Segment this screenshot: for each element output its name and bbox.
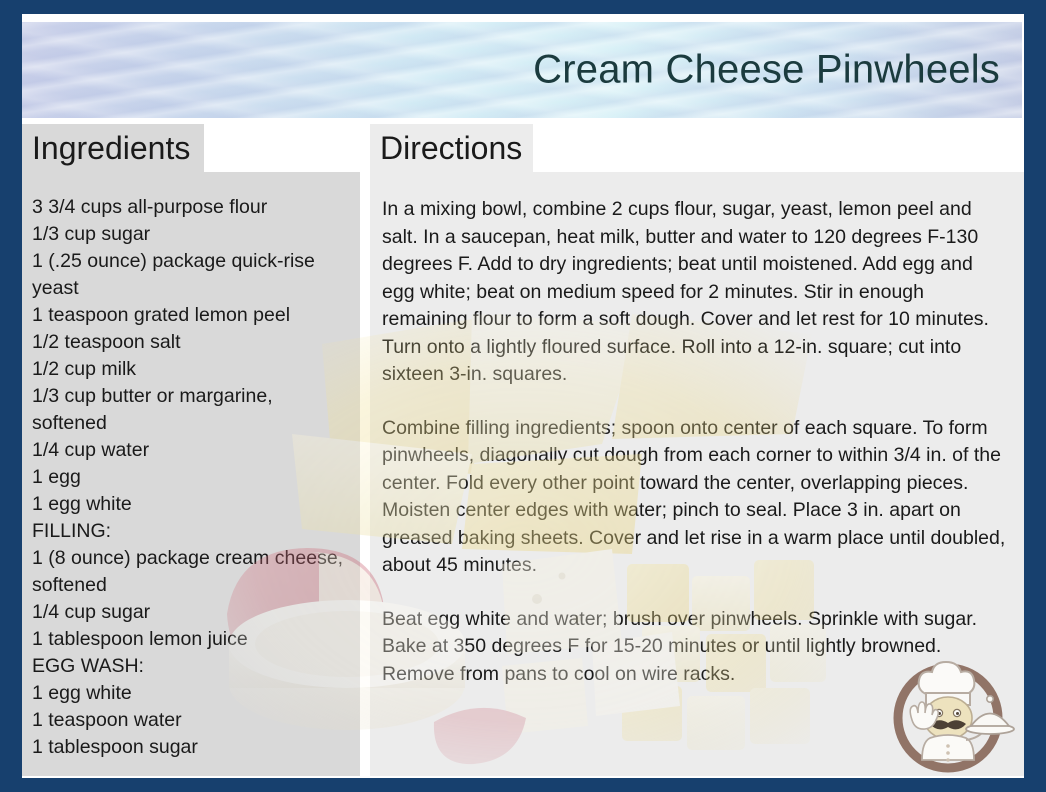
ingredient-item: 1 tablespoon lemon juice [32, 626, 348, 653]
recipe-card: Cream Cheese Pinwheels [0, 0, 1046, 792]
ingredient-item: 1 (8 ounce) package cream cheese, soften… [32, 545, 348, 599]
ingredient-item: 1 teaspoon water [32, 707, 348, 734]
direction-paragraph: In a mixing bowl, combine 2 cups flour, … [382, 196, 1008, 389]
ingredient-item: 1 egg white [32, 680, 348, 707]
ingredient-item: 1 egg white [32, 491, 348, 518]
directions-heading: Directions [370, 124, 533, 172]
ingredient-item: 1/3 cup sugar [32, 221, 348, 248]
ingredient-item: EGG WASH: [32, 653, 348, 680]
ingredient-item: 1 egg [32, 464, 348, 491]
ingredient-item: 1/4 cup sugar [32, 599, 348, 626]
page-title: Cream Cheese Pinwheels [533, 48, 1000, 93]
ingredient-item: 1/4 cup water [32, 437, 348, 464]
ingredient-item: FILLING: [32, 518, 348, 545]
ingredient-item: 1 teaspoon grated lemon peel [32, 302, 348, 329]
ingredients-heading: Ingredients [22, 124, 204, 172]
direction-paragraph: Combine filling ingredients; spoon onto … [382, 415, 1008, 580]
title-banner: Cream Cheese Pinwheels [22, 22, 1022, 118]
chef-mascot-logo [886, 652, 1018, 774]
ingredient-item: 3 3/4 cups all-purpose flour [32, 194, 348, 221]
ingredients-list: 3 3/4 cups all-purpose flour1/3 cup suga… [22, 172, 360, 776]
ingredient-item: 1/2 teaspoon salt [32, 329, 348, 356]
ingredient-item: 1/3 cup butter or margarine, softened [32, 383, 348, 437]
ingredients-panel: Ingredients 3 3/4 cups all-purpose flour… [22, 124, 360, 776]
card-inner: Cream Cheese Pinwheels [22, 14, 1024, 778]
ingredient-item: 1 (.25 ounce) package quick-rise yeast [32, 248, 348, 302]
ingredient-item: 1 tablespoon sugar [32, 734, 348, 761]
ingredient-item: 1/2 cup milk [32, 356, 348, 383]
